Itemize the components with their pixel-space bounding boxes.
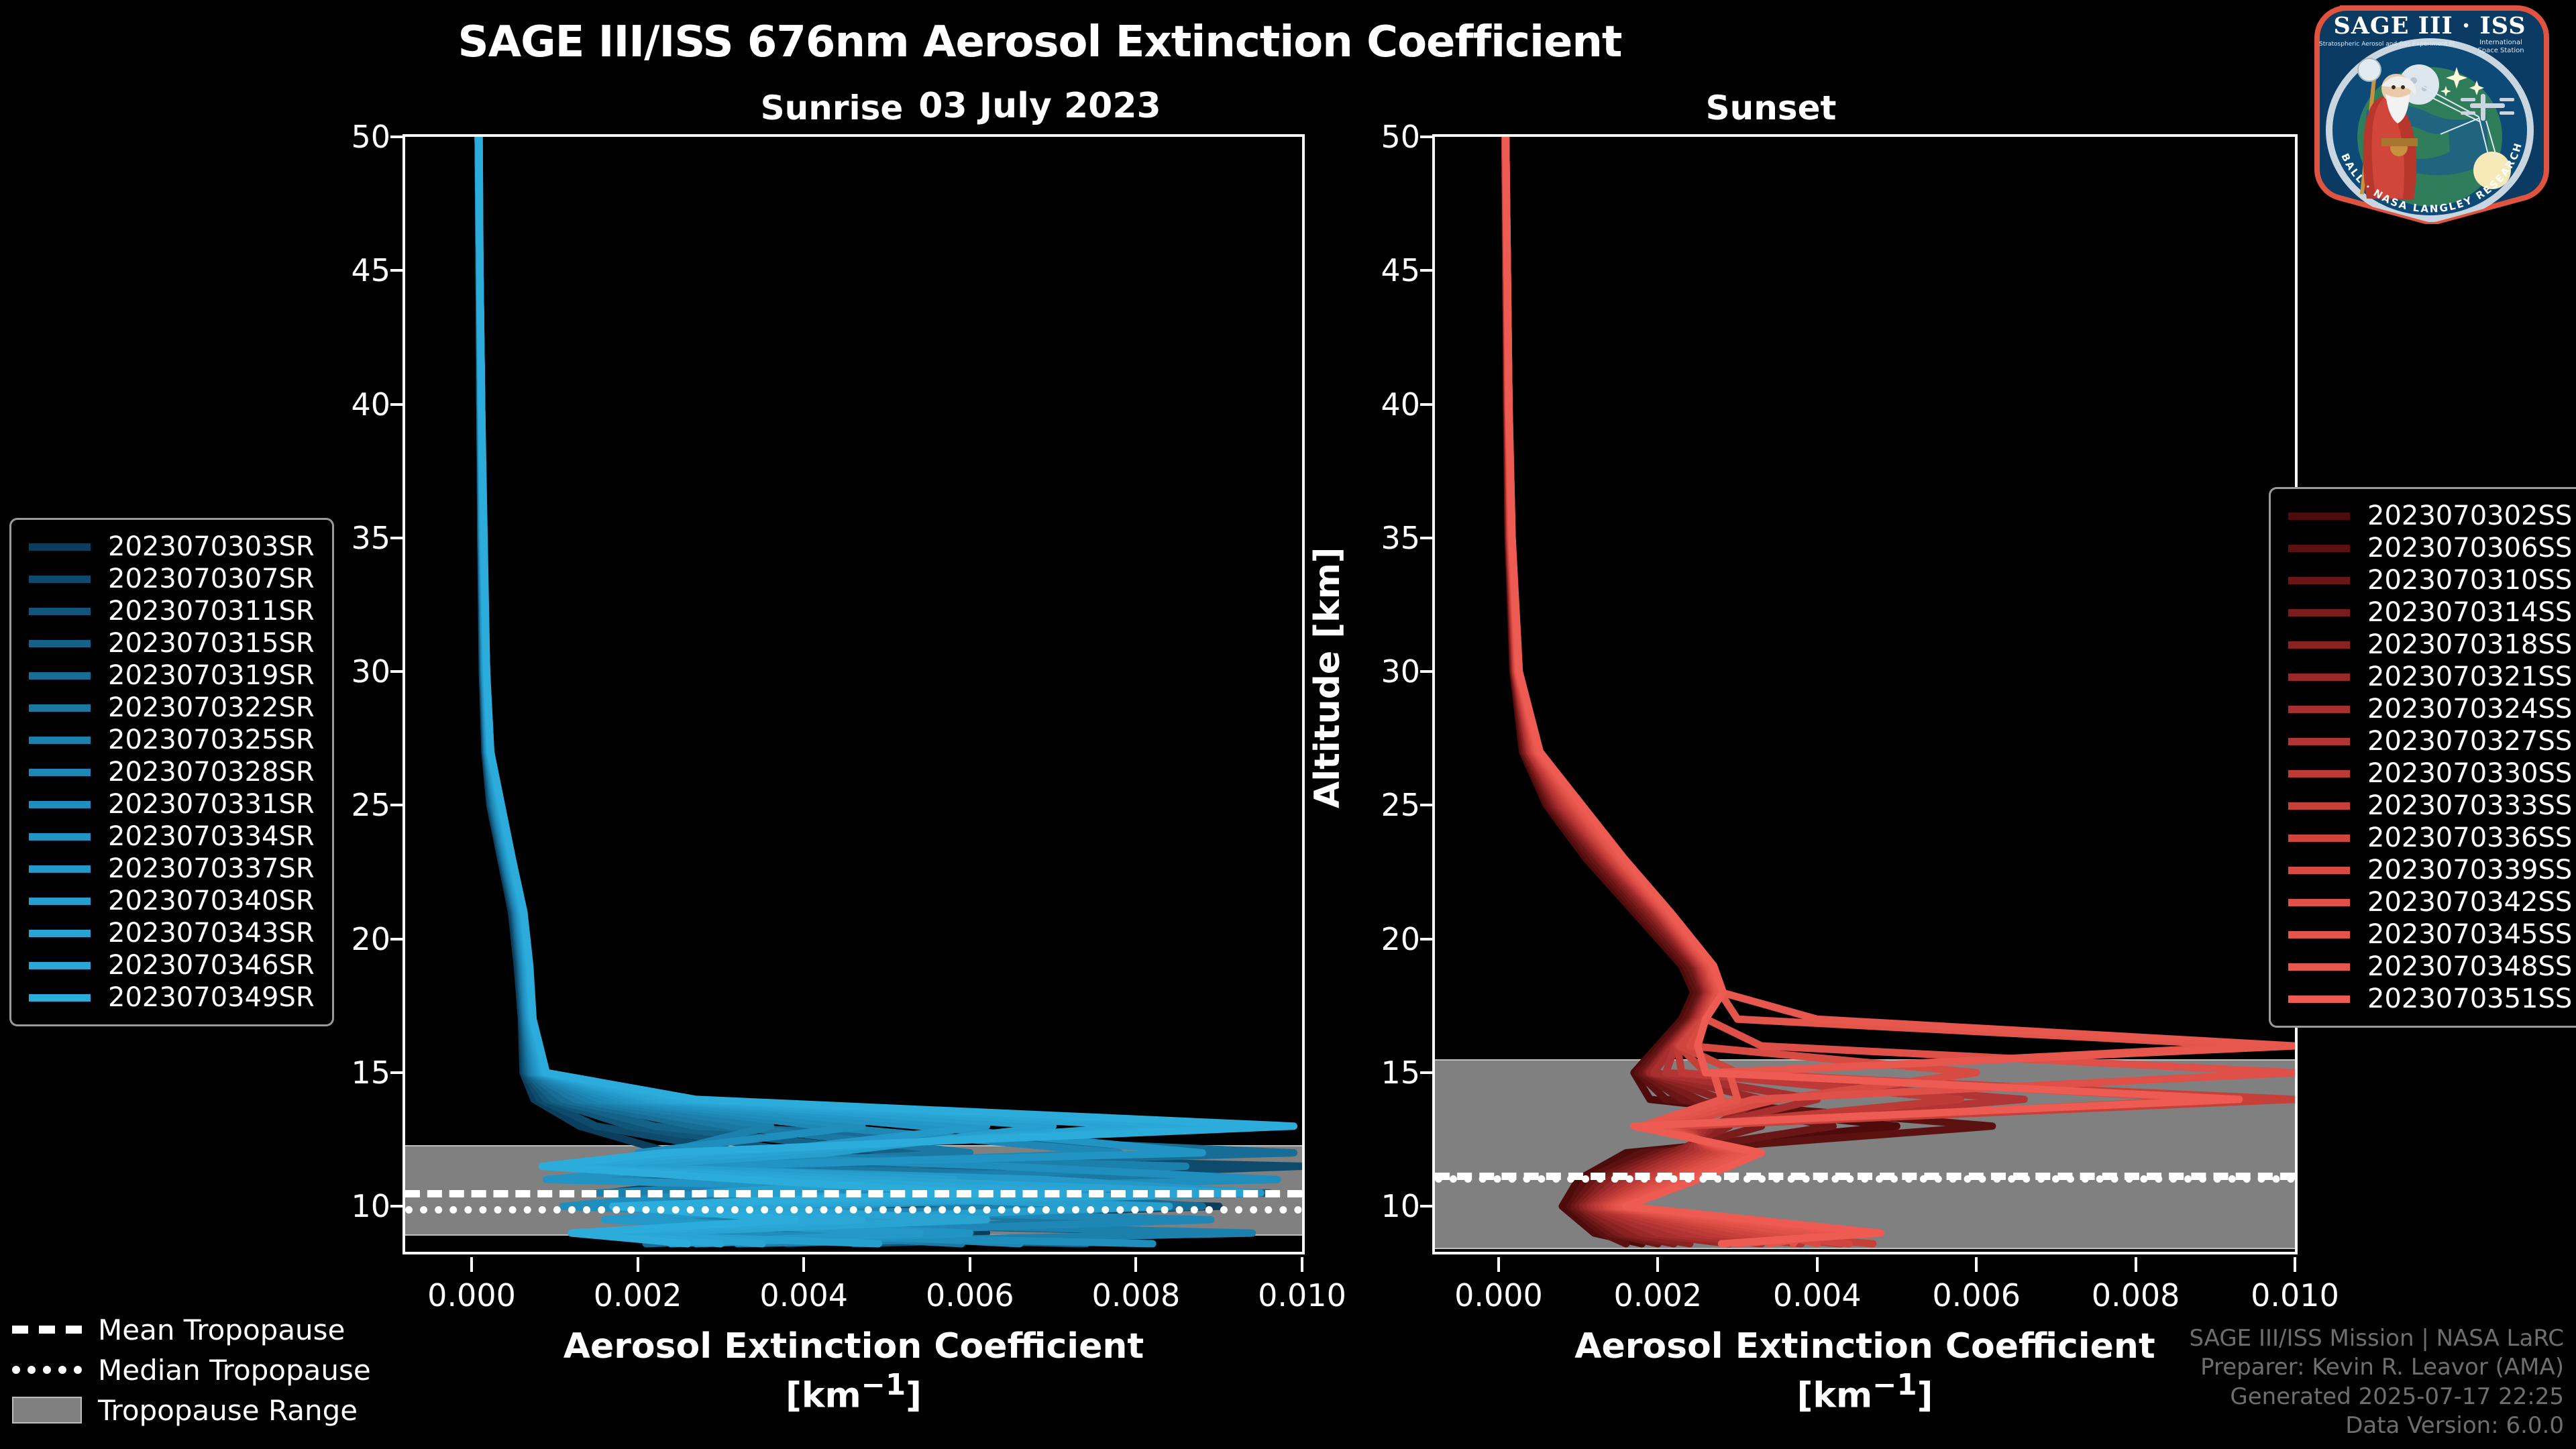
legend-row-median-tropopause: Median Tropopause [12, 1350, 371, 1390]
credits-data-version: Data Version: 6.0.0 [2189, 1411, 2564, 1441]
x-axis-tick-label: 0.008 [1049, 1277, 1223, 1313]
y-axis-tick-mark [390, 537, 405, 539]
legend-item-2023070325sr[interactable]: 2023070325SR [29, 724, 315, 756]
x-axis-title-line2: [km−1] [1435, 1368, 2295, 1417]
x-axis-tick-label: 0.010 [1215, 1277, 1389, 1313]
mean-tropopause-line [405, 1190, 1302, 1197]
x-axis-title-line1: Aerosol Extinction Coefficient [405, 1326, 1302, 1368]
legend-item-2023070324ss[interactable]: 2023070324SS [2288, 693, 2572, 725]
legend-item-label: 2023070307SR [108, 563, 315, 594]
legend-tropopause: Mean Tropopause Median Tropopause Tropop… [12, 1309, 371, 1430]
y-axis-tick-mark [390, 403, 405, 406]
x-axis-tick-mark [1816, 1257, 1819, 1272]
x-axis-tick-label: 0.010 [2208, 1277, 2382, 1313]
y-axis-tick-label: 40 [1219, 386, 1435, 423]
y-axis-tick-mark [1420, 537, 1435, 539]
x-axis-title-sunset: Aerosol Extinction Coefficient [km−1] [1435, 1326, 2295, 1417]
legend-item-2023070322sr[interactable]: 2023070322SR [29, 692, 315, 724]
legend-color-swatch [29, 801, 91, 808]
y-axis-tick-label: 10 [1219, 1188, 1435, 1224]
legend-item-2023070348ss[interactable]: 2023070348SS [2288, 951, 2572, 983]
legend-color-swatch [2288, 963, 2350, 971]
legend-color-swatch [2288, 609, 2350, 616]
dotted-line-icon [12, 1366, 82, 1374]
x-axis-tick-label: 0.006 [883, 1277, 1057, 1313]
legend-color-swatch [29, 962, 91, 969]
legend-item-label: 2023070339SS [2367, 855, 2572, 885]
legend-item-label: 2023070303SR [108, 531, 315, 562]
legend-color-swatch [2288, 835, 2350, 842]
legend-color-swatch [29, 543, 91, 551]
legend-item-label: 2023070348SS [2367, 951, 2572, 982]
legend-item-label: 2023070346SR [108, 950, 315, 981]
legend-item-2023070307sr[interactable]: 2023070307SR [29, 563, 315, 595]
legend-item-2023070345ss[interactable]: 2023070345SS [2288, 918, 2572, 951]
x-axis-tick-label: 0.002 [551, 1277, 725, 1313]
y-axis-tick-label: 15 [189, 1055, 405, 1091]
svg-text:Stratospheric Aerosol and Gas: Stratospheric Aerosol and Gas Experiment… [2319, 41, 2455, 48]
x-axis-tick-mark [637, 1257, 639, 1272]
y-axis-tick-label: 20 [1219, 921, 1435, 957]
legend-item-2023070340sr[interactable]: 2023070340SR [29, 885, 315, 917]
y-axis-tick-label: 15 [1219, 1055, 1435, 1091]
y-axis-tick-label: 10 [189, 1188, 405, 1224]
panel-label-sunset: Sunset [1583, 89, 1959, 127]
legend-color-swatch [29, 769, 91, 776]
legend-row-tropopause-range: Tropopause Range [12, 1390, 371, 1430]
legend-item-2023070311sr[interactable]: 2023070311SR [29, 595, 315, 627]
y-axis-tick-mark [390, 804, 405, 806]
legend-item-label: 2023070337SR [108, 853, 315, 884]
legend-item-label: 2023070315SR [108, 628, 315, 659]
series-line [478, 137, 1260, 1244]
legend-item-2023070346sr[interactable]: 2023070346SR [29, 949, 315, 981]
x-axis-tick-mark [969, 1257, 971, 1272]
legend-item-label: 2023070330SS [2367, 758, 2572, 789]
y-axis-title-sunset: Altitude [km] [1307, 547, 1348, 808]
x-axis-tick-mark [1656, 1257, 1659, 1272]
legend-item-2023070349sr[interactable]: 2023070349SR [29, 981, 315, 1014]
legend-color-swatch [2288, 738, 2350, 745]
dashed-line-icon [12, 1326, 82, 1334]
median-tropopause-line [1435, 1175, 2295, 1183]
legend-color-swatch [29, 704, 91, 712]
series-line [478, 137, 1269, 1244]
x-axis-tick-label: 0.000 [1411, 1277, 1586, 1313]
x-axis-tick-mark [1975, 1257, 1978, 1272]
legend-item-label: 2023070345SS [2367, 919, 2572, 950]
x-axis-tick-mark [2294, 1257, 2296, 1272]
legend-item-label: 2023070314SS [2367, 597, 2572, 628]
x-axis-tick-mark [802, 1257, 805, 1272]
legend-color-swatch [2288, 706, 2350, 713]
legend-item-label: 2023070306SS [2367, 533, 2572, 563]
legend-color-swatch [29, 865, 91, 873]
legend-item-2023070343sr[interactable]: 2023070343SR [29, 917, 315, 949]
legend-color-swatch [2288, 931, 2350, 938]
legend-color-swatch [2288, 513, 2350, 520]
series-line [478, 137, 1277, 1244]
x-axis-title-line1: Aerosol Extinction Coefficient [1435, 1326, 2295, 1368]
y-axis-tick-mark [390, 938, 405, 941]
x-axis-tick-label: 0.004 [716, 1277, 891, 1313]
legend-item-2023070333ss[interactable]: 2023070333SS [2288, 790, 2572, 822]
sage-iii-iss-logo: SAGE III · ISS Stratospheric Aerosol and… [2288, 3, 2569, 224]
x-axis-tick-mark [1134, 1257, 1137, 1272]
legend-item-2023070336ss[interactable]: 2023070336SS [2288, 822, 2572, 854]
legend-item-2023070342ss[interactable]: 2023070342SS [2288, 886, 2572, 918]
legend-item-2023070334sr[interactable]: 2023070334SR [29, 820, 315, 853]
legend-item-2023070331sr[interactable]: 2023070331SR [29, 788, 315, 820]
legend-item-2023070328sr[interactable]: 2023070328SR [29, 756, 315, 788]
legend-item-2023070321ss[interactable]: 2023070321SS [2288, 661, 2572, 693]
legend-item-2023070314ss[interactable]: 2023070314SS [2288, 596, 2572, 629]
legend-item-2023070318ss[interactable]: 2023070318SS [2288, 629, 2572, 661]
legend-item-label: 2023070318SS [2367, 629, 2572, 660]
x-axis-tick-mark [2135, 1257, 2137, 1272]
y-axis-tick-mark [1420, 136, 1435, 138]
gray-band-icon [12, 1397, 82, 1424]
x-axis-title-line2: [km−1] [405, 1368, 1302, 1417]
legend-item-label: 2023070333SS [2367, 790, 2572, 821]
panel-label-sunrise: Sunrise [644, 89, 1020, 127]
legend-color-swatch [2288, 899, 2350, 906]
x-axis-sunset: 0.0000.0020.0040.0060.0080.010 [1435, 1257, 2295, 1311]
legend-color-swatch [29, 608, 91, 615]
legend-item-2023070330ss[interactable]: 2023070330SS [2288, 757, 2572, 790]
y-axis-tick-mark [1420, 670, 1435, 673]
legend-item-label: 2023070324SS [2367, 694, 2572, 724]
y-axis-tick-label: 40 [189, 386, 405, 423]
y-axis-tick-label: 45 [189, 252, 405, 288]
legend-item-label: 2023070343SR [108, 918, 315, 949]
legend-color-swatch [29, 672, 91, 680]
x-axis-tick-mark [470, 1257, 473, 1272]
legend-item-label: 2023070321SS [2367, 661, 2572, 692]
series-line [1506, 137, 2295, 1244]
x-axis-tick-label: 0.004 [1730, 1277, 1904, 1313]
x-axis-title-sunrise: Aerosol Extinction Coefficient [km−1] [405, 1326, 1302, 1417]
y-axis-tick-mark [390, 1071, 405, 1074]
legend-color-swatch [29, 576, 91, 583]
legend-item-2023070315sr[interactable]: 2023070315SR [29, 627, 315, 659]
legend-item-label: 2023070336SS [2367, 822, 2572, 853]
legend-color-swatch [29, 737, 91, 744]
y-axis-tick-mark [390, 670, 405, 673]
svg-text:Space Station: Space Station [2477, 47, 2524, 54]
legend-item-label: 2023070322SR [108, 692, 315, 723]
legend-color-swatch [29, 833, 91, 841]
legend-item-2023070337sr[interactable]: 2023070337SR [29, 853, 315, 885]
y-axis-tick-mark [1420, 804, 1435, 806]
x-axis-tick-mark [1301, 1257, 1303, 1272]
legend-item-2023070339ss[interactable]: 2023070339SS [2288, 854, 2572, 886]
legend-color-swatch [2288, 674, 2350, 681]
legend-label-mean-tropopause: Mean Tropopause [98, 1313, 345, 1346]
y-axis-tick-label: 45 [1219, 252, 1435, 288]
legend-item-label: 2023070351SS [2367, 983, 2572, 1014]
legend-item-label: 2023070342SS [2367, 887, 2572, 918]
y-axis-tick-label: 50 [189, 119, 405, 155]
series-line [478, 137, 1294, 1244]
legend-sunrise[interactable]: 2023070303SR2023070307SR2023070311SR2023… [9, 518, 334, 1026]
x-axis-tick-label: 0.002 [1570, 1277, 1745, 1313]
legend-item-label: 2023070334SR [108, 821, 315, 852]
legend-color-swatch [2288, 802, 2350, 810]
legend-item-label: 2023070340SR [108, 885, 315, 916]
legend-color-swatch [29, 994, 91, 1002]
legend-color-swatch [2288, 867, 2350, 874]
legend-row-mean-tropopause: Mean Tropopause [12, 1309, 371, 1350]
legend-label-median-tropopause: Median Tropopause [98, 1354, 371, 1387]
legend-item-label: 2023070328SR [108, 757, 315, 788]
legend-color-swatch [2288, 577, 2350, 584]
legend-color-swatch [29, 898, 91, 905]
y-axis-tick-mark [1420, 938, 1435, 941]
x-axis-tick-mark [1497, 1257, 1500, 1272]
legend-color-swatch [29, 640, 91, 647]
legend-item-2023070306ss[interactable]: 2023070306SS [2288, 532, 2572, 564]
plot-area-sunrise [402, 134, 1305, 1254]
y-axis-tick-mark [390, 1205, 405, 1207]
credits-preparer: Preparer: Kevin R. Leavor (AMA) [2189, 1353, 2564, 1383]
credits-block: SAGE III/ISS Mission | NASA LaRC Prepare… [2189, 1324, 2564, 1441]
series-lines [405, 137, 1302, 1252]
legend-item-label: 2023070325SR [108, 724, 315, 755]
legend-color-swatch [2288, 641, 2350, 649]
series-line [479, 137, 1293, 1244]
y-axis-tick-mark [1420, 269, 1435, 272]
y-axis-tick-mark [1420, 1071, 1435, 1074]
series-lines [1435, 137, 2295, 1252]
legend-item-label: 2023070331SR [108, 789, 315, 820]
x-axis-tick-label: 0.006 [1889, 1277, 2063, 1313]
legend-color-swatch [29, 930, 91, 937]
legend-color-swatch [2288, 770, 2350, 777]
x-axis-sunrise: 0.0000.0020.0040.0060.0080.010 [405, 1257, 1302, 1311]
legend-item-label: 2023070349SR [108, 982, 315, 1013]
credits-generated: Generated 2025-07-17 22:25 [2189, 1383, 2564, 1412]
x-axis-tick-label: 0.000 [384, 1277, 559, 1313]
legend-label-tropopause-range: Tropopause Range [98, 1394, 358, 1427]
legend-sunset[interactable]: 2023070302SS2023070306SS2023070310SS2023… [2269, 487, 2576, 1028]
legend-color-swatch [2288, 996, 2350, 1003]
y-axis-tick-label: 50 [1219, 119, 1435, 155]
legend-color-swatch [2288, 545, 2350, 552]
legend-item-label: 2023070327SS [2367, 726, 2572, 757]
legend-item-2023070310ss[interactable]: 2023070310SS [2288, 564, 2572, 596]
legend-item-2023070303sr[interactable]: 2023070303SR [29, 531, 315, 563]
y-axis-tick-mark [1420, 403, 1435, 406]
credits-mission: SAGE III/ISS Mission | NASA LaRC [2189, 1324, 2564, 1354]
y-axis-tick-mark [1420, 1205, 1435, 1207]
legend-item-label: 2023070310SS [2367, 565, 2572, 596]
page-title: SAGE III/ISS 676nm Aerosol Extinction Co… [0, 17, 2080, 67]
series-line [478, 137, 1302, 1244]
legend-item-2023070327ss[interactable]: 2023070327SS [2288, 725, 2572, 757]
svg-text:International: International [2479, 39, 2522, 46]
legend-item-2023070351ss[interactable]: 2023070351SS [2288, 983, 2572, 1015]
x-axis-tick-label: 0.008 [2049, 1277, 2223, 1313]
legend-item-label: 2023070319SR [108, 660, 315, 691]
legend-item-2023070302ss[interactable]: 2023070302SS [2288, 500, 2572, 532]
legend-item-label: 2023070302SS [2367, 500, 2572, 531]
y-axis-tick-mark [390, 269, 405, 272]
plot-area-sunset [1432, 134, 2298, 1254]
legend-item-label: 2023070311SR [108, 596, 315, 627]
legend-item-2023070319sr[interactable]: 2023070319SR [29, 659, 315, 692]
y-axis-tick-mark [390, 136, 405, 138]
svg-text:SAGE III · ISS: SAGE III · ISS [2333, 12, 2526, 40]
median-tropopause-line [405, 1206, 1302, 1214]
